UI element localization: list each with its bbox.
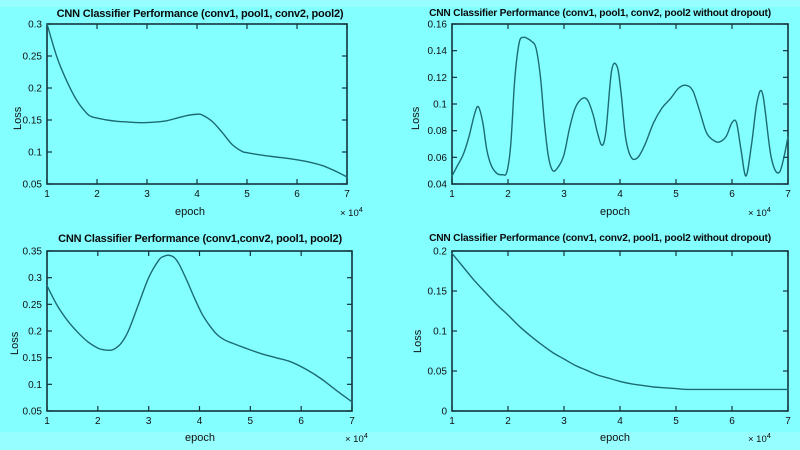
svg-text:0.25: 0.25 [23, 300, 43, 311]
svg-text:2: 2 [95, 416, 101, 427]
x-axis-exponent-base: × 10 [340, 208, 359, 219]
svg-text:3: 3 [146, 416, 152, 427]
svg-text:0: 0 [441, 407, 447, 418]
x-axis-exponent-base: × 10 [748, 208, 767, 219]
plot-area-wrapper: 12345670.050.10.150.20.250.3 [0, 0, 400, 225]
svg-text:4: 4 [617, 189, 623, 200]
svg-text:0.05: 0.05 [428, 367, 448, 378]
y-axis-label: Loss [9, 332, 21, 355]
svg-text:0.3: 0.3 [28, 20, 42, 31]
subplot-bottom-left: CNN Classifier Performance (conv1,conv2,… [0, 225, 400, 450]
data-series-line [47, 24, 347, 177]
x-axis-exponent-power: 4 [767, 205, 771, 214]
svg-text:7: 7 [344, 189, 350, 200]
plot-svg: 123456700.050.10.150.2 [400, 225, 800, 450]
x-axis-exponent: × 104 [748, 205, 771, 219]
plot-svg: 12345670.050.10.150.20.250.3 [0, 0, 400, 225]
svg-text:0.25: 0.25 [23, 52, 43, 63]
svg-text:0.15: 0.15 [23, 353, 43, 364]
x-axis-label: epoch [175, 206, 205, 218]
svg-text:4: 4 [197, 416, 203, 427]
svg-text:5: 5 [248, 416, 254, 427]
svg-text:2: 2 [94, 189, 100, 200]
svg-text:3: 3 [144, 189, 150, 200]
svg-text:1: 1 [44, 189, 50, 200]
subplot-top-right: CNN Classifier Performance (conv1, pool1… [400, 0, 800, 225]
svg-text:7: 7 [349, 416, 355, 427]
svg-text:0.1: 0.1 [28, 148, 42, 159]
x-axis-exponent-power: 4 [364, 431, 368, 440]
svg-text:0.12: 0.12 [428, 73, 448, 84]
x-axis-exponent: × 104 [340, 205, 363, 219]
svg-text:7: 7 [785, 416, 791, 427]
x-axis-label: epoch [185, 432, 215, 444]
svg-text:6: 6 [729, 416, 735, 427]
x-axis-exponent: × 104 [345, 431, 368, 445]
plot-svg: 12345670.050.10.150.20.250.30.35 [0, 225, 400, 450]
svg-text:7: 7 [785, 189, 791, 200]
svg-text:0.1: 0.1 [433, 100, 447, 111]
subplot-top-left: CNN Classifier Performance (conv1, pool1… [0, 0, 400, 225]
y-axis-label: Loss [410, 107, 422, 130]
x-axis-label: epoch [600, 206, 630, 218]
svg-text:1: 1 [449, 189, 455, 200]
svg-text:4: 4 [617, 416, 623, 427]
svg-text:5: 5 [673, 189, 679, 200]
x-axis-label: epoch [600, 432, 630, 444]
svg-text:0.3: 0.3 [28, 273, 42, 284]
subplot-bottom-right: CNN Classifier Performance (conv1, conv2… [400, 225, 800, 450]
svg-text:0.15: 0.15 [428, 287, 448, 298]
svg-text:0.05: 0.05 [23, 180, 43, 191]
x-axis-exponent-base: × 10 [748, 434, 767, 445]
svg-text:3: 3 [561, 189, 567, 200]
x-axis-exponent-base: × 10 [345, 434, 364, 445]
plot-area-wrapper: 12345670.040.060.080.10.120.140.16 [400, 0, 800, 225]
figure-canvas: CNN Classifier Performance (conv1, pool1… [0, 0, 800, 450]
svg-text:0.2: 0.2 [433, 247, 447, 258]
svg-text:0.2: 0.2 [28, 84, 42, 95]
data-series-line [452, 37, 788, 176]
svg-text:1: 1 [44, 416, 50, 427]
svg-text:0.1: 0.1 [433, 327, 447, 338]
svg-text:0.2: 0.2 [28, 327, 42, 338]
svg-text:6: 6 [729, 189, 735, 200]
subplot-grid: CNN Classifier Performance (conv1, pool1… [0, 0, 800, 450]
svg-text:2: 2 [505, 416, 511, 427]
svg-text:0.16: 0.16 [428, 20, 448, 31]
y-axis-label: Loss [12, 107, 24, 130]
plot-area-wrapper: 123456700.050.10.150.2 [400, 225, 800, 450]
plot-svg: 12345670.040.060.080.10.120.140.16 [400, 0, 800, 225]
svg-text:0.08: 0.08 [428, 126, 448, 137]
svg-text:3: 3 [561, 416, 567, 427]
svg-text:0.35: 0.35 [23, 247, 43, 258]
svg-text:2: 2 [505, 189, 511, 200]
svg-text:0.14: 0.14 [428, 46, 448, 57]
x-axis-exponent-power: 4 [359, 205, 363, 214]
svg-text:0.06: 0.06 [428, 153, 448, 164]
svg-text:6: 6 [298, 416, 304, 427]
svg-text:4: 4 [194, 189, 200, 200]
svg-text:5: 5 [673, 416, 679, 427]
data-series-line [47, 255, 352, 402]
plot-area-wrapper: 12345670.050.10.150.20.250.30.35 [0, 225, 400, 450]
y-axis-label: Loss [412, 330, 424, 353]
svg-text:6: 6 [294, 189, 300, 200]
svg-text:0.15: 0.15 [23, 116, 43, 127]
svg-text:0.04: 0.04 [428, 180, 448, 191]
svg-text:5: 5 [244, 189, 250, 200]
svg-text:0.1: 0.1 [28, 380, 42, 391]
x-axis-exponent: × 104 [748, 431, 771, 445]
svg-text:0.05: 0.05 [23, 407, 43, 418]
data-series-line [452, 253, 788, 389]
x-axis-exponent-power: 4 [767, 431, 771, 440]
svg-text:1: 1 [449, 416, 455, 427]
